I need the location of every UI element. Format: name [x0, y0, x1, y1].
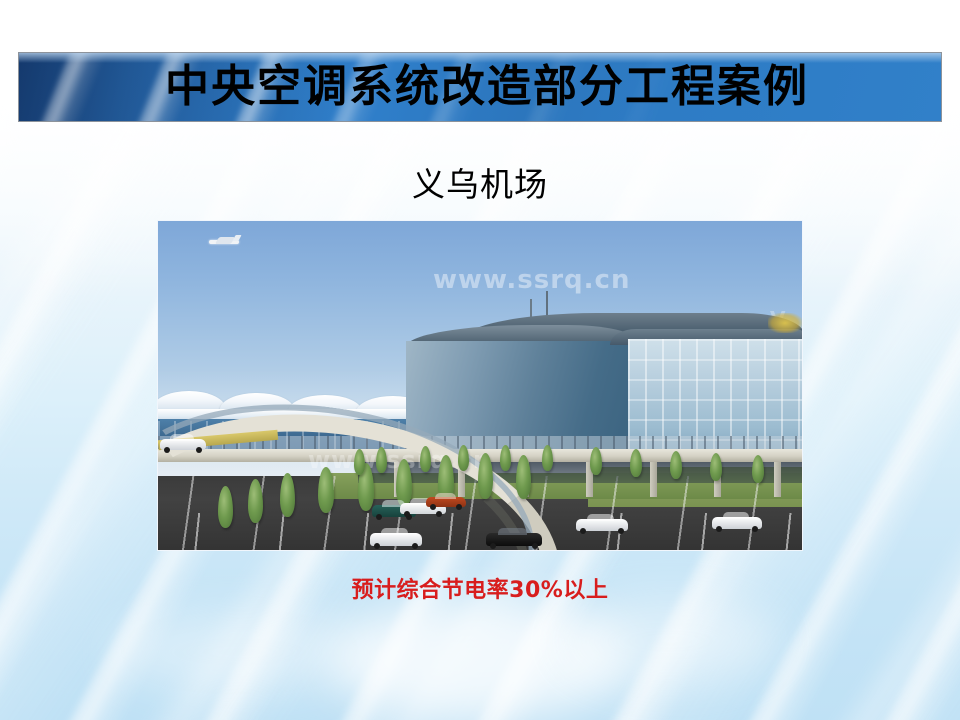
slide-title: 中央空调系统改造部分工程案例: [151, 65, 809, 109]
tree: [630, 449, 642, 477]
car-black: [486, 533, 542, 546]
tree: [752, 455, 764, 483]
tree: [710, 453, 722, 481]
tree: [458, 445, 469, 471]
car-orange: [426, 497, 466, 507]
terminal-logo: [768, 313, 802, 333]
viaduct-pier: [650, 461, 657, 497]
tree: [542, 445, 553, 471]
car-white: [370, 533, 422, 546]
tree: [376, 447, 387, 473]
background-cloud-puff: [560, 596, 780, 686]
photo-watermark-top: www.ssrq.cn: [433, 265, 630, 295]
airport-photo: www.ssrq.cn V: [157, 220, 803, 551]
tree: [590, 447, 602, 475]
tree: [354, 449, 365, 475]
energy-saving-caption: 预计综合节电率30%以上: [0, 572, 960, 604]
car-white: [160, 439, 206, 450]
terminal-building-body: [406, 341, 656, 451]
viaduct-pier: [774, 461, 781, 497]
presentation-slide: 中央空调系统改造部分工程案例 义乌机场 www.ssrq.cn V: [0, 0, 960, 720]
tree: [670, 451, 682, 479]
car-white: [576, 519, 628, 531]
tree: [500, 445, 511, 471]
title-banner: 中央空调系统改造部分工程案例: [18, 52, 942, 122]
slide-subtitle: 义乌机场: [0, 167, 960, 203]
car-white: [712, 517, 762, 529]
tree: [420, 446, 431, 472]
airplane-icon: [206, 235, 242, 248]
background-cloud-puff: [110, 612, 370, 692]
